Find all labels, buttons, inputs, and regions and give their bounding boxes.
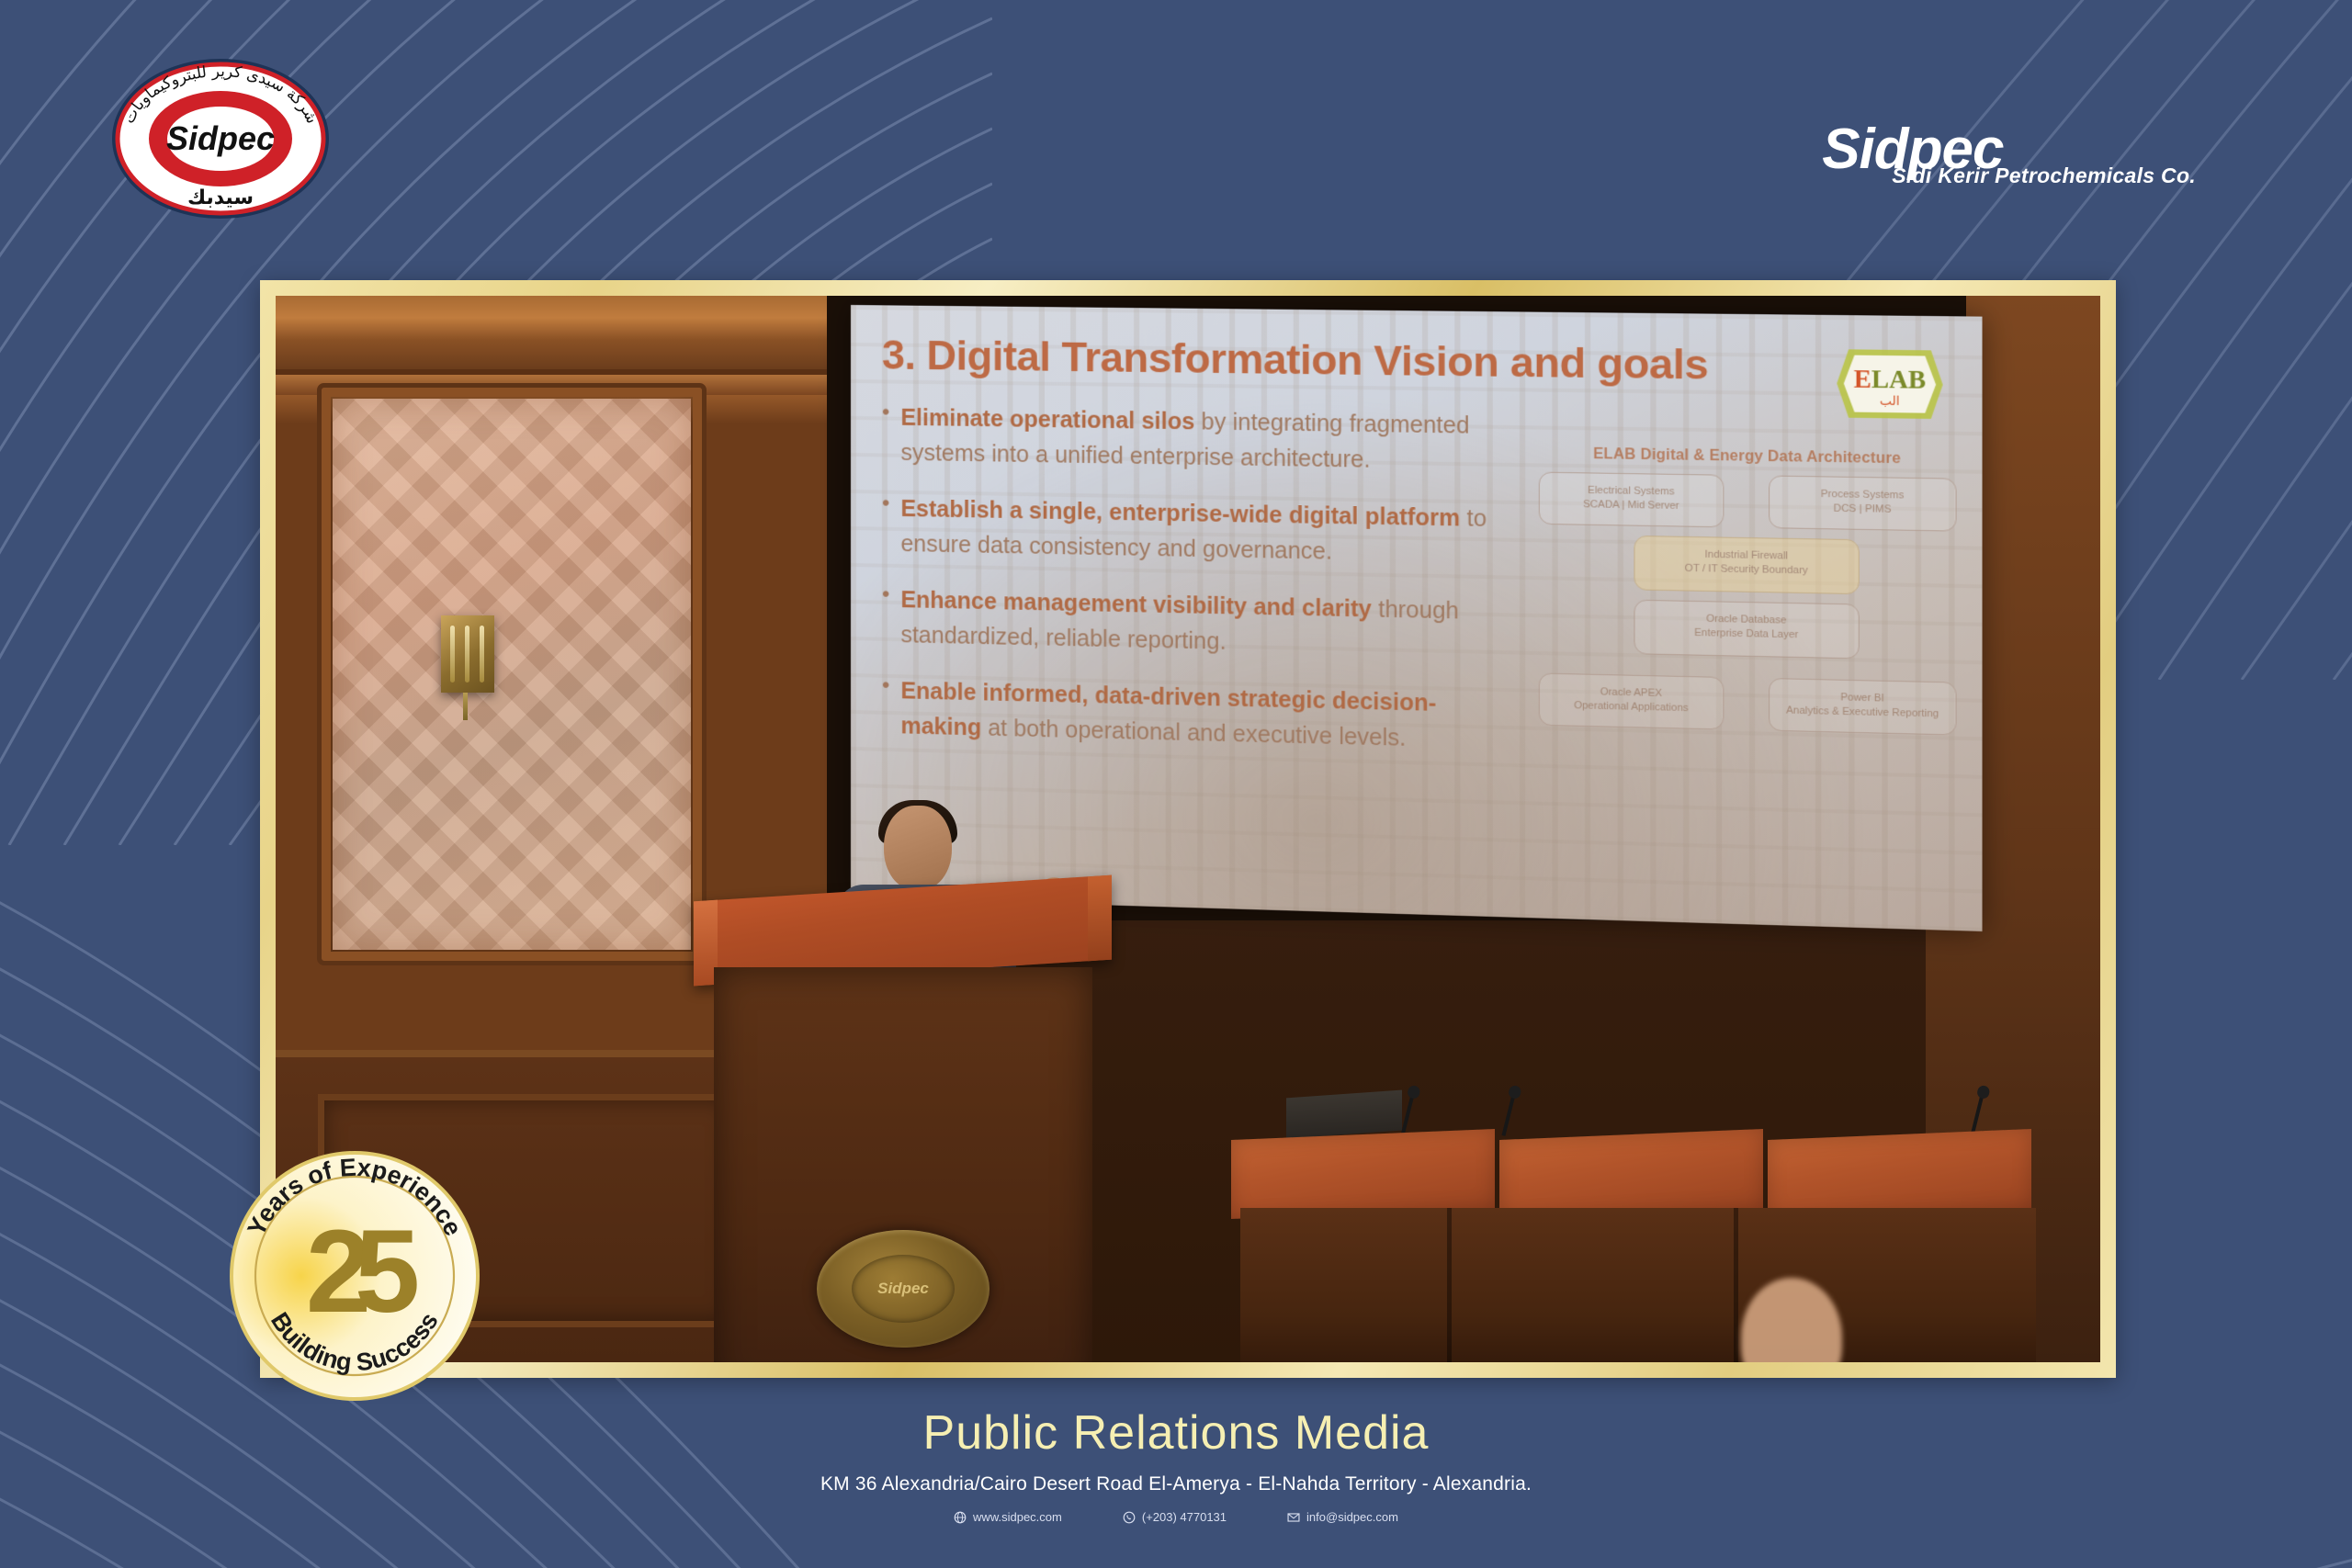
sconce-rod-1 [450, 626, 455, 682]
svg-text:ELAB: ELAB [1854, 365, 1926, 394]
podium: Sidpec [694, 888, 1112, 1362]
anniversary-badge: Years of Experience Building Success 25 [227, 1148, 482, 1404]
contact-website[interactable]: www.sidpec.com [954, 1510, 1062, 1524]
slide-title: 3. Digital Transformation Vision and goa… [882, 333, 1949, 389]
footer-contacts: www.sidpec.com (+203) 4770131 info@sidpe… [0, 1510, 2352, 1524]
logo-arabic-bottom: سيدبك [187, 186, 254, 209]
arch-node-line2: DCS | PIMS [1775, 501, 1950, 517]
architecture-row-bottom: Oracle APEX Operational Applications Pow… [1539, 672, 1957, 735]
contact-phone[interactable]: (+203) 4770131 [1123, 1510, 1227, 1524]
arch-node-line2: Analytics & Executive Reporting [1775, 704, 1950, 722]
sconce-rod-3 [480, 626, 484, 682]
footer: Public Relations Media KM 36 Alexandria/… [0, 1405, 2352, 1524]
podium-emblem: Sidpec [817, 1230, 989, 1348]
bullet-item: • Eliminate operational silos by integra… [882, 400, 1520, 480]
contact-email[interactable]: info@sidpec.com [1287, 1510, 1398, 1524]
sidpec-logo: Sidpec شركة سيدى كرير للبتروكيماويات سيد… [110, 57, 331, 220]
arch-node-power-bi: Power BI Analytics & Executive Reporting [1769, 678, 1957, 736]
brand-wordmark: Sidpec Sidi Kerir Petrochemicals Co. [1822, 121, 2196, 186]
bullet-dot-icon: • [882, 400, 889, 470]
arch-node-process-systems: Process Systems DCS | PIMS [1769, 475, 1957, 531]
website-text: www.sidpec.com [973, 1510, 1062, 1524]
elab-logo: ELAB الب [1835, 340, 1945, 429]
arch-node-oracle-apex: Oracle APEX Operational Applications [1539, 672, 1724, 729]
svg-text:الب: الب [1880, 394, 1900, 409]
wordmark-subtitle: Sidi Kerir Petrochemicals Co. [1892, 165, 2196, 186]
conference-desk [1231, 1134, 2036, 1362]
bullet-item: • Enable informed, data-driven strategic… [882, 673, 1520, 759]
bullet-item: • Establish a single, enterprise-wide di… [882, 491, 1520, 573]
arch-node-line2: Operational Applications [1545, 698, 1717, 716]
mail-icon [1287, 1511, 1300, 1524]
badge-number: 25 [306, 1206, 417, 1337]
desk-panel [1231, 1129, 1495, 1219]
desk-top-panels [1231, 1134, 2036, 1213]
podium-body: Sidpec [714, 967, 1092, 1362]
sconce-rod-2 [465, 626, 469, 682]
arch-node-industrial-firewall: Industrial Firewall OT / IT Security Bou… [1634, 536, 1859, 594]
bullet-bold-text: Establish a single, enterprise-wide digi… [900, 496, 1460, 532]
phone-text: (+203) 4770131 [1142, 1510, 1227, 1524]
logo-center-text: Sidpec [166, 119, 275, 157]
architecture-row-top: Electrical Systems SCADA | Mid Server Pr… [1539, 472, 1957, 532]
bullet-bold-text: Enhance management visibility and clarit… [900, 587, 1372, 623]
bullet-dot-icon: • [882, 491, 889, 561]
bullet-dot-icon: • [882, 582, 889, 652]
decorative-stone-panel [333, 399, 691, 950]
footer-title: Public Relations Media [0, 1405, 2352, 1461]
footer-address: KM 36 Alexandria/Cairo Desert Road El-Am… [0, 1473, 2352, 1495]
architecture-diagram: ELAB Digital & Energy Data Architecture … [1539, 446, 1957, 766]
globe-icon [954, 1511, 967, 1524]
bullet-bold-text: Eliminate operational silos [900, 405, 1194, 435]
desk-front [1240, 1208, 2036, 1362]
arch-node-electrical-systems: Electrical Systems SCADA | Mid Server [1539, 472, 1724, 528]
phone-icon [1123, 1511, 1136, 1524]
wood-crown-molding [276, 296, 829, 375]
bullet-dot-icon: • [882, 673, 889, 743]
arch-node-line2: OT / IT Security Boundary [1641, 561, 1853, 580]
photo-frame: 3. Digital Transformation Vision and goa… [260, 280, 2116, 1378]
arch-node-line2: SCADA | Mid Server [1545, 497, 1717, 513]
arch-node-oracle-database: Oracle Database Enterprise Data Layer [1634, 600, 1859, 660]
email-text: info@sidpec.com [1306, 1510, 1398, 1524]
podium-emblem-text: Sidpec [852, 1255, 955, 1323]
bullet-rest-text: at both operational and executive levels… [981, 716, 1406, 752]
architecture-title: ELAB Digital & Energy Data Architecture [1539, 446, 1957, 468]
desk-panel [1499, 1129, 1763, 1219]
slide-bullets: • Eliminate operational silos by integra… [882, 400, 1520, 760]
conference-photo: 3. Digital Transformation Vision and goa… [276, 296, 2100, 1362]
bullet-item: • Enhance management visibility and clar… [882, 582, 1520, 666]
desk-nameplate [1286, 1090, 1402, 1139]
desk-panel [1768, 1129, 2031, 1219]
wall-sconce [441, 615, 494, 693]
speaker-head [884, 806, 952, 890]
